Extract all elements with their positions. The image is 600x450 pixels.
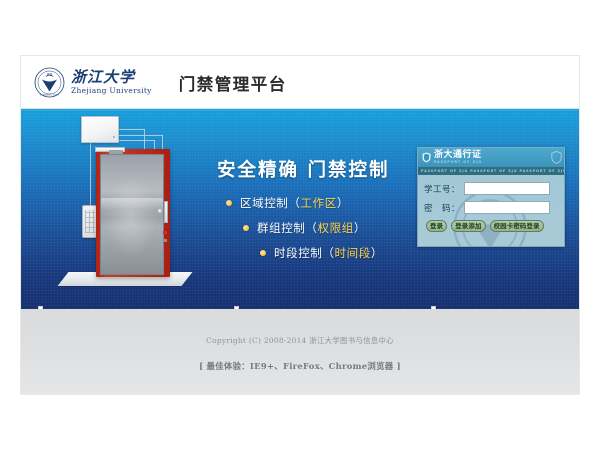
login-form: 学工号： 密 码： 登录 登录添加 校园卡密码登录 xyxy=(418,175,564,232)
login-panel-header: 浙大通行证 PASSPORT OF ZJU xyxy=(418,148,564,167)
feature-text: 区域控制（ xyxy=(240,195,301,211)
field-password: 密 码： xyxy=(424,201,558,214)
shield-watermark-icon xyxy=(551,151,562,164)
door-frame xyxy=(96,149,170,277)
hero-feature-list: 区域控制（ 工作区 ） 群组控制（ 权限组 ） 时段控制（ 时间段 ） xyxy=(226,195,383,270)
door-lock-plate xyxy=(164,201,168,223)
site-footer: Copyright (C) 2008-2014 浙江大学图书与信息中心 [ 最佳… xyxy=(21,309,579,395)
field-label: 密 码： xyxy=(424,202,464,214)
feature-text: 时段控制（ xyxy=(274,245,335,261)
copyright-text: Copyright (C) 2008-2014 浙江大学图书与信息中心 xyxy=(21,309,579,346)
feature-suffix: ） xyxy=(337,195,349,211)
field-student-id: 学工号： xyxy=(424,182,558,195)
hero-banner: 安全精确 门禁控制 区域控制（ 工作区 ） 群组控制（ 权限组 ） 时段控制（ … xyxy=(21,109,579,309)
brand-logo[interactable]: 求是 ZHEJIANG UNIV 浙江大学 Zhejiang Universit… xyxy=(34,67,152,98)
wire xyxy=(90,143,91,205)
door-handle xyxy=(158,209,162,213)
login-panel-title-en: PASSPORT OF ZJU xyxy=(434,161,482,165)
list-item: 区域控制（ 工作区 ） xyxy=(226,195,383,211)
dot-icon xyxy=(260,250,266,256)
page-title: 门禁管理平台 xyxy=(179,71,287,95)
feature-text: 群组控制（ xyxy=(257,220,318,236)
dot-icon xyxy=(243,225,249,231)
door-status-led-gray xyxy=(163,239,167,242)
dot-icon xyxy=(226,200,232,206)
feature-highlight: 权限组 xyxy=(318,220,354,236)
feature-highlight: 时间段 xyxy=(335,245,371,261)
door-status-led-red xyxy=(163,231,167,234)
brand-name-cn: 浙江大学 xyxy=(71,70,152,85)
brand-name-en: Zhejiang University xyxy=(71,87,152,95)
hero-slogan: 安全精确 门禁控制 xyxy=(217,156,389,182)
controller-box xyxy=(81,116,119,143)
login-button[interactable]: 登录 xyxy=(426,220,447,232)
feature-suffix: ） xyxy=(354,220,366,236)
student-id-input[interactable] xyxy=(464,182,550,195)
list-item: 时段控制（ 时间段 ） xyxy=(260,245,383,261)
browser-support-text: [ 最佳体验：IE9+、FireFox、Chrome浏览器 ] xyxy=(21,346,579,372)
shield-icon xyxy=(422,152,431,163)
field-label: 学工号： xyxy=(424,183,464,195)
page-container: 求是 ZHEJIANG UNIV 浙江大学 Zhejiang Universit… xyxy=(20,55,580,395)
wire xyxy=(119,129,145,130)
zju-seal-icon: 求是 ZHEJIANG UNIV xyxy=(34,67,65,98)
keypad-keys xyxy=(85,210,95,233)
login-panel-marquee: PASSPORT OF ZJU PASSPORT OF ZJU PASSPORT… xyxy=(418,167,564,175)
door-access-control-illustration xyxy=(43,109,203,309)
login-button-row: 登录 登录添加 校园卡密码登录 xyxy=(424,220,558,232)
login-panel-title-cn: 浙大通行证 xyxy=(434,151,482,160)
door-closer-arm xyxy=(109,150,123,154)
svg-text:ZHEJIANG UNIV: ZHEJIANG UNIV xyxy=(40,94,59,97)
login-panel: 浙大通行证 PASSPORT OF ZJU PASSPORT OF ZJU PA… xyxy=(417,147,565,247)
wire xyxy=(119,135,163,136)
site-header: 求是 ZHEJIANG UNIV 浙江大学 Zhejiang Universit… xyxy=(21,56,579,109)
campus-card-login-button[interactable]: 校园卡密码登录 xyxy=(490,220,544,232)
feature-suffix: ） xyxy=(371,245,383,261)
door-highlight-band xyxy=(101,198,163,216)
login-add-button[interactable]: 登录添加 xyxy=(451,220,485,232)
feature-highlight: 工作区 xyxy=(301,195,337,211)
password-input[interactable] xyxy=(464,201,550,214)
list-item: 群组控制（ 权限组 ） xyxy=(243,220,383,236)
svg-text:求是: 求是 xyxy=(46,72,52,77)
wire xyxy=(119,140,155,141)
door-panel xyxy=(100,154,164,275)
marquee-text: PASSPORT OF ZJU PASSPORT OF ZJU PASSPORT… xyxy=(418,169,564,173)
zju-seal-watermark-icon xyxy=(452,189,528,247)
